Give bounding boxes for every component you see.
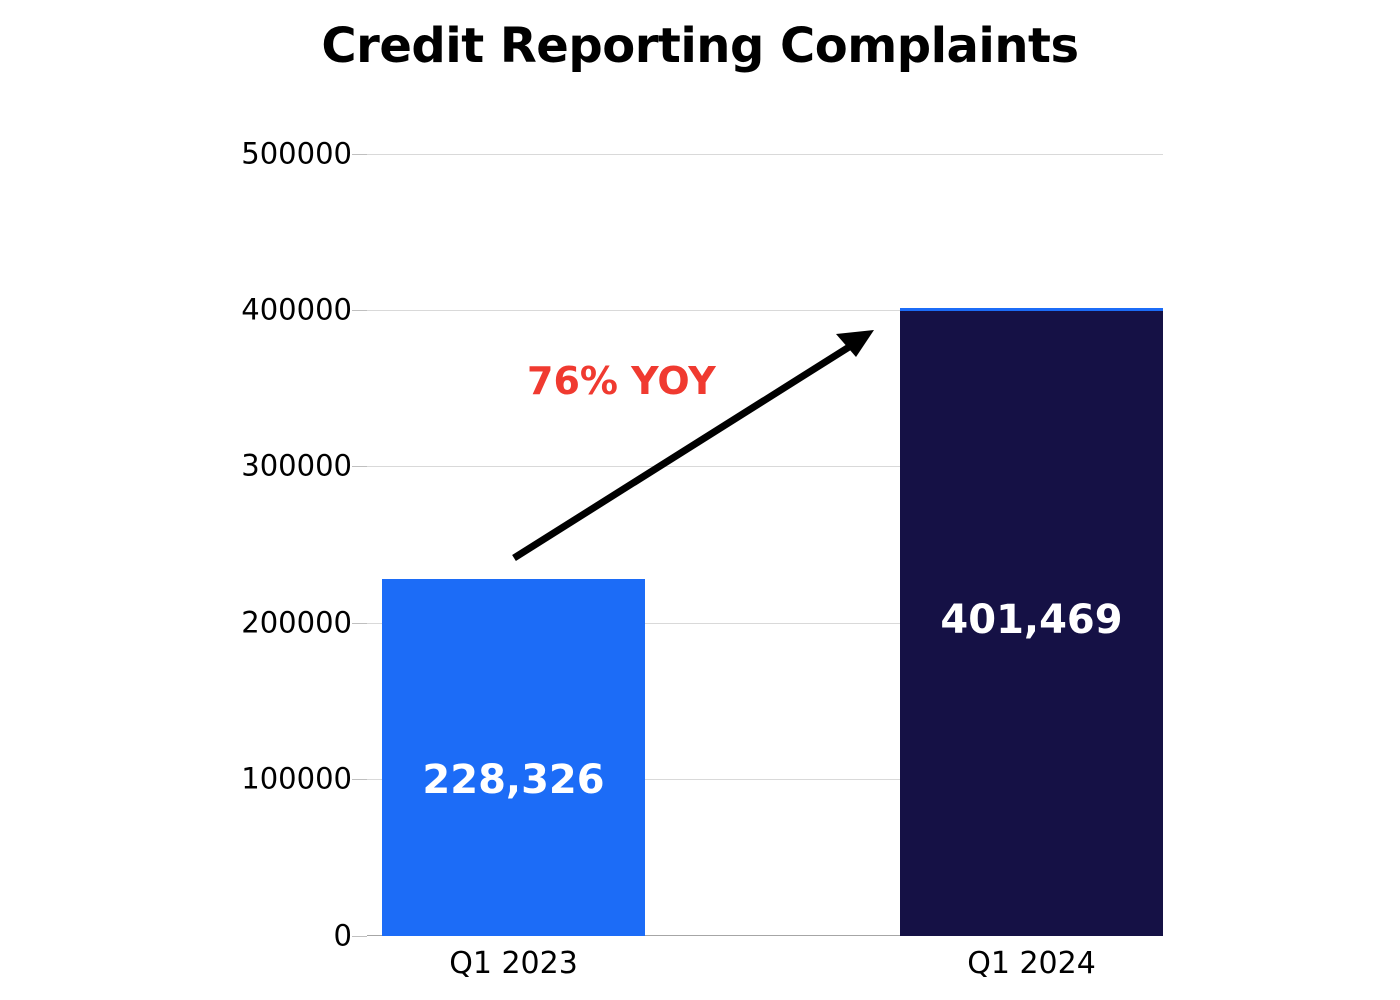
y-tick-label-400000: 400000	[241, 296, 352, 325]
bar-value-label-q1-2023: 228,326	[382, 757, 645, 803]
bar-chart: Credit Reporting Complaints 500000 40000…	[0, 0, 1400, 1000]
x-tick-label-q1-2024: Q1 2024	[900, 946, 1163, 981]
plot-area: 228,326 401,469	[367, 154, 1163, 936]
y-tick-mark-500000	[352, 154, 367, 155]
gridline-500000	[367, 154, 1163, 155]
bar-q1-2024[interactable]: 401,469	[900, 308, 1163, 936]
yoy-growth-annotation: 76% YOY	[527, 361, 716, 403]
y-tick-mark-300000	[352, 466, 367, 467]
y-tick-label-100000: 100000	[241, 765, 352, 794]
y-tick-mark-400000	[352, 310, 367, 311]
y-tick-label-300000: 300000	[241, 452, 352, 481]
bar-value-label-q1-2024: 401,469	[900, 597, 1163, 643]
y-tick-mark-200000	[352, 623, 367, 624]
bar-q1-2023[interactable]: 228,326	[382, 579, 645, 936]
y-tick-mark-0	[352, 936, 367, 937]
y-tick-label-200000: 200000	[241, 609, 352, 638]
y-tick-mark-100000	[352, 779, 367, 780]
y-axis: 500000 400000 300000 200000 100000 0	[0, 0, 352, 1000]
x-tick-label-q1-2023: Q1 2023	[382, 946, 645, 981]
y-tick-label-500000: 500000	[241, 140, 352, 169]
y-tick-label-0: 0	[334, 922, 352, 951]
